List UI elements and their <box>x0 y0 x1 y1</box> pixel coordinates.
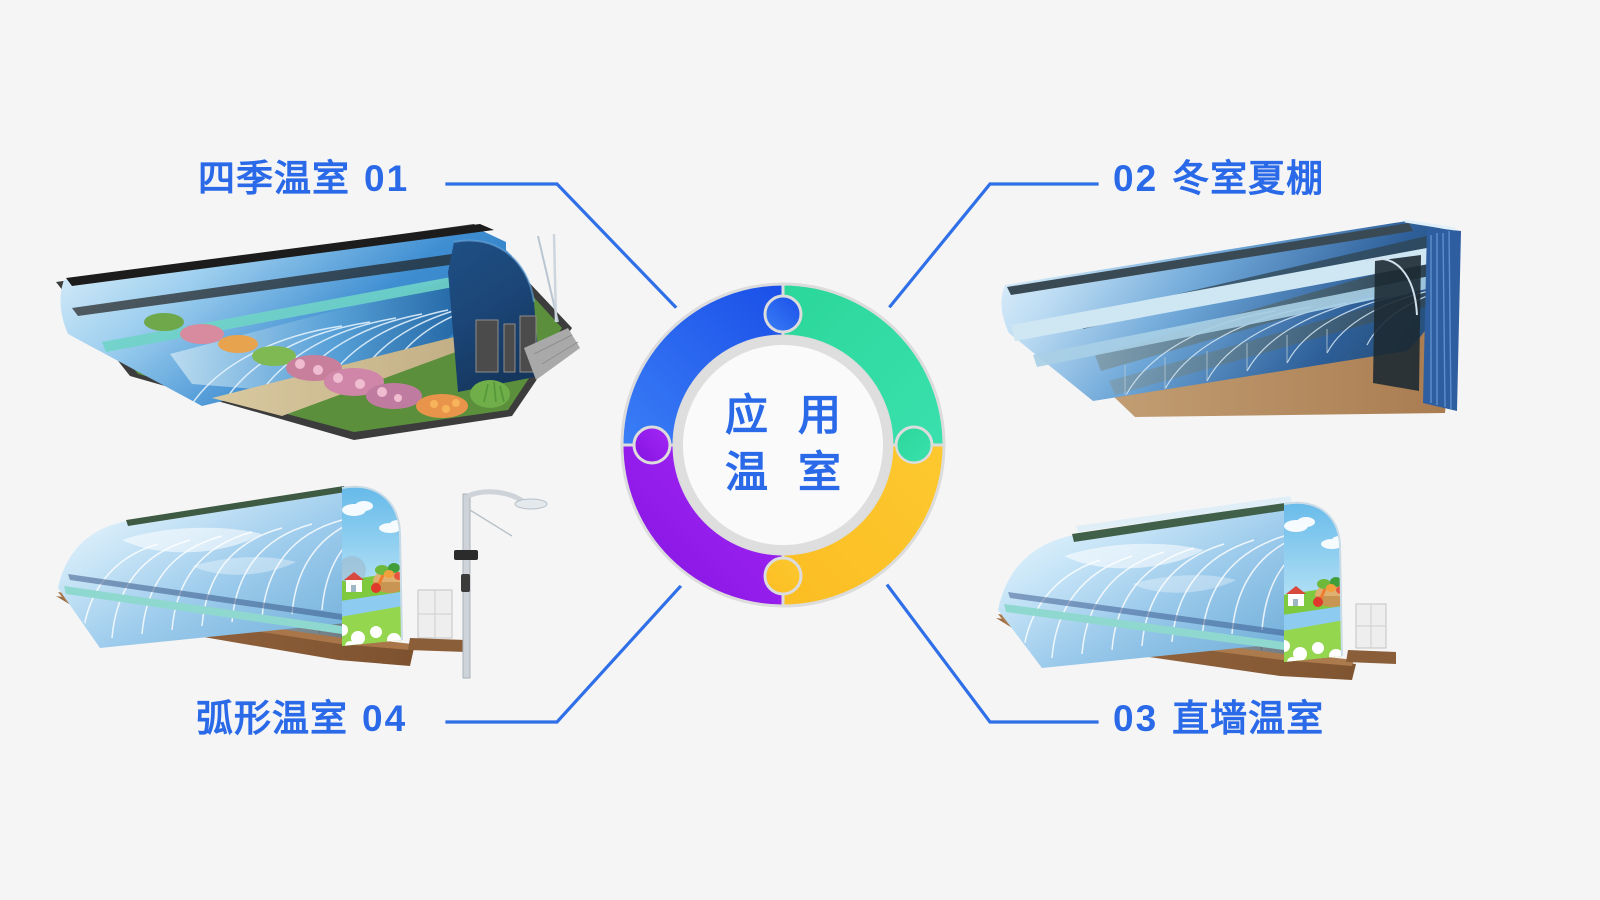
end-wall-panel <box>418 590 452 638</box>
callout-number-03: 03 <box>1113 698 1158 739</box>
mural-vegetable-basket <box>1313 577 1356 607</box>
greenhouse-image-01[interactable] <box>42 216 602 446</box>
callout-number-01: 01 <box>364 158 409 199</box>
end-wall <box>1423 227 1461 411</box>
street-lamp <box>454 492 547 678</box>
greenhouse-image-02[interactable] <box>975 205 1485 435</box>
puzzle-ring-svg <box>609 271 957 619</box>
end-wall-panel <box>1356 604 1386 648</box>
callout-title-03: 直墙温室 <box>1172 698 1324 739</box>
callout-label-02[interactable]: 02冬室夏棚 <box>1113 160 1324 197</box>
greenhouse-image-04[interactable] <box>42 470 562 690</box>
mural-end-wall <box>1276 494 1356 669</box>
end-wall-doors <box>476 316 536 372</box>
panel-base <box>408 638 466 652</box>
end-wall-opening <box>1373 255 1421 391</box>
callout-number-04: 04 <box>362 698 407 739</box>
infographic-canvas: 四季温室01 02冬室夏棚 03直墙温室 弧形温室04 <box>0 0 1600 900</box>
panel-base <box>1346 650 1396 664</box>
puzzle-ring: 应 用 温 室 <box>609 271 957 619</box>
callout-title-02: 冬室夏棚 <box>1172 158 1324 199</box>
center-disc <box>683 345 883 545</box>
callout-number-02: 02 <box>1113 158 1158 199</box>
callout-label-03[interactable]: 03直墙温室 <box>1113 700 1324 737</box>
callout-label-01[interactable]: 四季温室01 <box>198 160 409 197</box>
callout-title-04: 弧形温室 <box>196 698 348 739</box>
greenhouse-image-03[interactable] <box>960 490 1480 680</box>
callout-title-01: 四季温室 <box>198 158 350 199</box>
mural-vegetable-basket <box>371 563 414 593</box>
callout-label-04[interactable]: 弧形温室04 <box>196 700 407 737</box>
mural-end-wall <box>334 478 420 654</box>
